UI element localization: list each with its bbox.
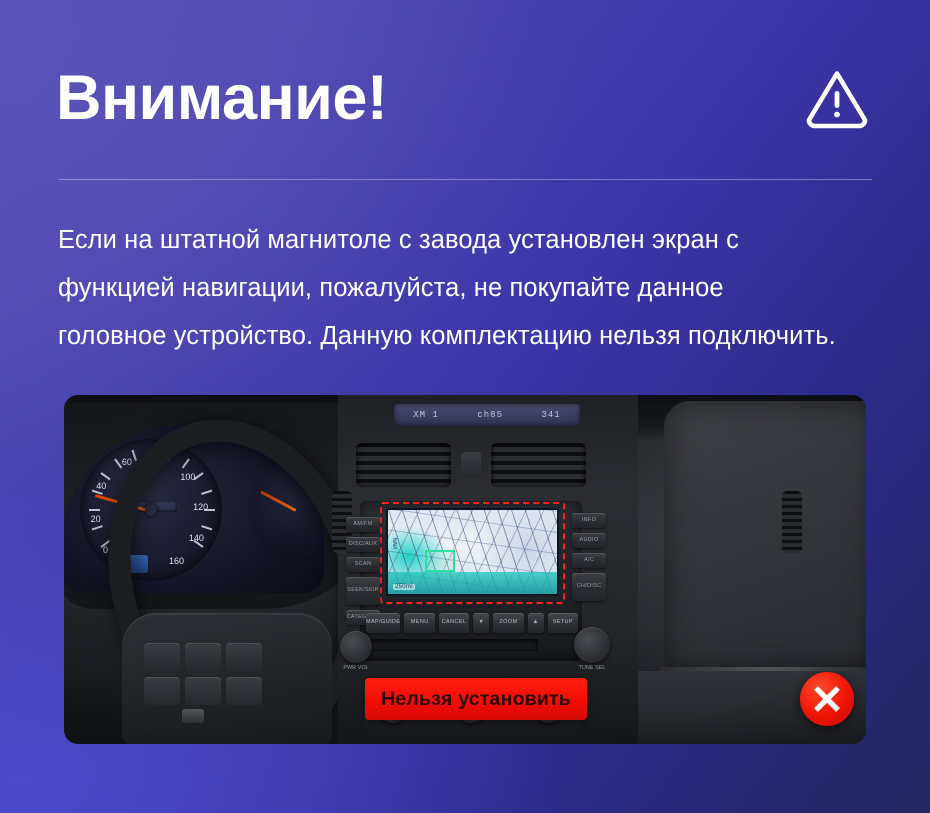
button-am-fm[interactable]: AM/FM bbox=[346, 517, 380, 532]
button-cancel[interactable]: CANCEL bbox=[439, 613, 469, 633]
head-unit-left-buttons: AM/FM DISC/AUX SCAN SEEK/SKIP CATEGORY bbox=[346, 517, 380, 625]
button-audio[interactable]: AUDIO bbox=[572, 533, 606, 548]
button-ac[interactable]: A/C bbox=[572, 553, 606, 568]
button-scan[interactable]: SCAN bbox=[346, 557, 380, 572]
volume-knob-label: PWR VOL bbox=[334, 665, 378, 671]
page-title: Внимание! bbox=[56, 67, 387, 130]
lcd-source-text: XM 1 bbox=[413, 410, 439, 420]
steering-wheel-buttons bbox=[144, 643, 262, 705]
map-scale-label: 250mi bbox=[393, 584, 415, 590]
tune-select-knob[interactable] bbox=[574, 627, 610, 663]
navigation-map: NAVI 250mi bbox=[388, 510, 557, 594]
info-lcd-strip: XM 1 ch85 341 bbox=[394, 404, 580, 426]
map-side-label: NAVI bbox=[391, 538, 397, 549]
navigation-button-row: MAP/GUIDE MENU CANCEL ▼ ZOOM ▲ SETUP bbox=[366, 613, 578, 633]
warning-text-line-2: функцией навигации, пожалуйста, не покуп… bbox=[58, 264, 878, 312]
button-info[interactable]: INFO bbox=[572, 513, 606, 528]
warning-triangle-icon bbox=[804, 67, 870, 129]
glovebox-panel bbox=[664, 401, 866, 669]
banner-header: Внимание! bbox=[56, 46, 874, 150]
warning-text: Если на штатной магнитоле с завода устан… bbox=[58, 216, 878, 360]
header-divider bbox=[58, 179, 872, 180]
button-zoom[interactable]: ZOOM bbox=[493, 613, 523, 633]
tune-knob-label: TUNE SEL bbox=[570, 665, 614, 671]
air-vent-center-left bbox=[356, 443, 451, 487]
disc-slot bbox=[370, 639, 538, 651]
button-map-guide[interactable]: MAP/GUIDE bbox=[366, 613, 400, 633]
button-zoom-in[interactable]: ▲ bbox=[528, 613, 544, 633]
button-seek-skip[interactable]: SEEK/SKIP bbox=[346, 577, 380, 605]
lcd-preset-text: 341 bbox=[542, 410, 561, 420]
button-zoom-out[interactable]: ▼ bbox=[473, 613, 489, 633]
air-vent-right bbox=[782, 491, 802, 553]
head-unit-right-buttons: INFO AUDIO A/C CH/DISC bbox=[572, 513, 606, 601]
steering-wheel-badge bbox=[182, 709, 204, 723]
volume-power-knob[interactable] bbox=[340, 631, 372, 663]
air-vent-center-right bbox=[491, 443, 586, 487]
center-air-vents bbox=[356, 443, 586, 487]
cross-circle-icon bbox=[800, 672, 854, 726]
warning-text-line-3: головное устройство. Данную комплектацию… bbox=[58, 312, 878, 360]
button-ch-disc[interactable]: CH/DISC bbox=[572, 573, 606, 601]
warning-text-line-1: Если на штатной магнитоле с завода устан… bbox=[58, 216, 878, 264]
button-setup[interactable]: SETUP bbox=[548, 613, 578, 633]
vent-knob bbox=[461, 452, 481, 478]
factory-navigation-screen: NAVI 250mi bbox=[386, 508, 559, 596]
warning-banner: Внимание! Если на штатной магнитоле с за… bbox=[0, 0, 930, 813]
button-disc-aux[interactable]: DISC/AUX bbox=[346, 537, 380, 552]
button-menu[interactable]: MENU bbox=[404, 613, 434, 633]
map-cursor-box bbox=[425, 550, 455, 572]
cannot-install-badge: Нельзя установить bbox=[365, 678, 587, 720]
lcd-channel-text: ch85 bbox=[477, 410, 503, 420]
